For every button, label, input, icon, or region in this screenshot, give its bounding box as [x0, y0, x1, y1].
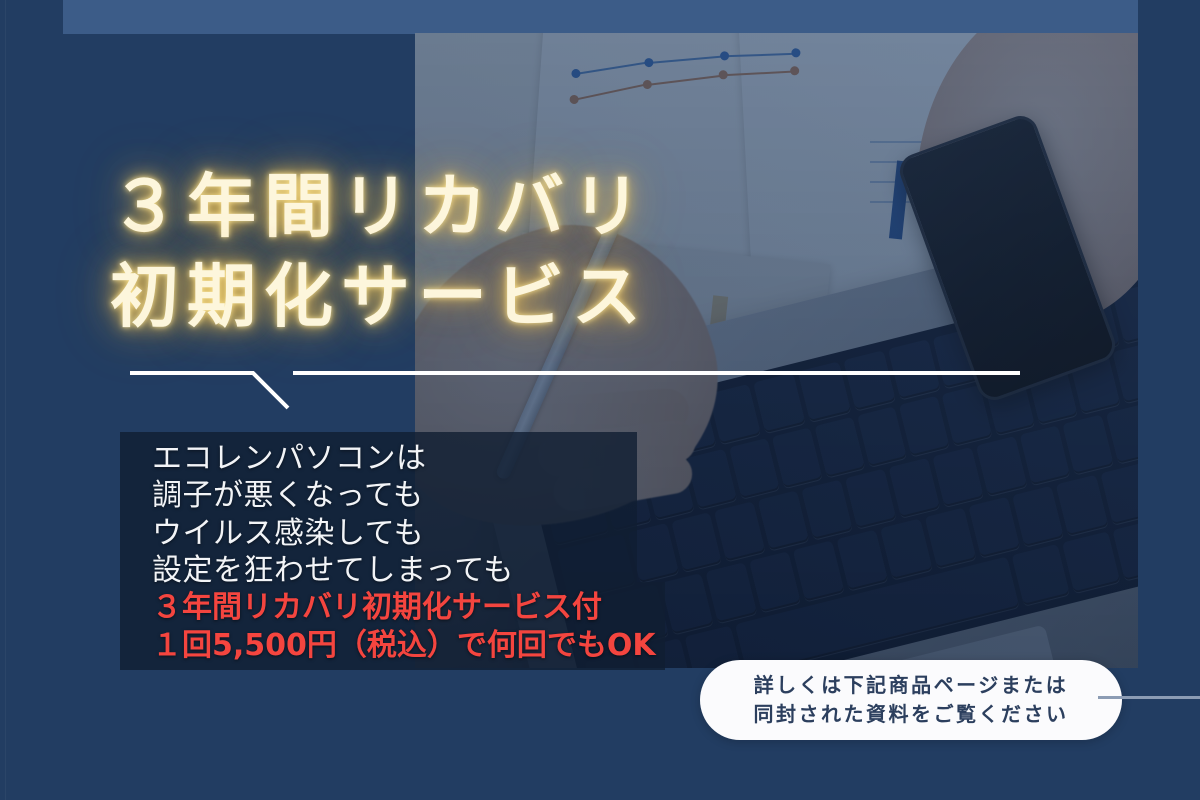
headline-line-2: 初期化サービス [110, 253, 870, 343]
body-text: エコレンパソコンは 調子が悪くなっても ウイルス感染しても 設定を狂わせてしまっ… [152, 440, 712, 664]
top-accent-band [63, 0, 1138, 34]
divider-line [0, 340, 1200, 420]
callout-tail-line [1098, 696, 1200, 699]
body-line-4: 設定を狂わせてしまっても [152, 552, 712, 589]
body-line-6-highlight: １回5,500円（税込）で何回でもOK [152, 627, 712, 664]
headline: ３年間リカバリ 初期化サービス [110, 163, 870, 342]
headline-line-1: ３年間リカバリ [110, 163, 870, 253]
body-line-5-highlight: ３年間リカバリ初期化サービス付 [152, 589, 712, 626]
body-line-1: エコレンパソコンは [152, 440, 712, 477]
callout-bubble: 詳しくは下記商品ページまたは 同封された資料をご覧ください [700, 660, 1122, 740]
callout-line-2: 同封された資料をご覧ください [754, 700, 1069, 729]
promo-banner: ３年間リカバリ 初期化サービス エコレンパソコンは 調子が悪くなっても ウイルス… [0, 0, 1200, 800]
body-line-3: ウイルス感染しても [152, 515, 712, 552]
callout-line-1: 詳しくは下記商品ページまたは [754, 671, 1069, 700]
body-line-2: 調子が悪くなっても [152, 477, 712, 514]
